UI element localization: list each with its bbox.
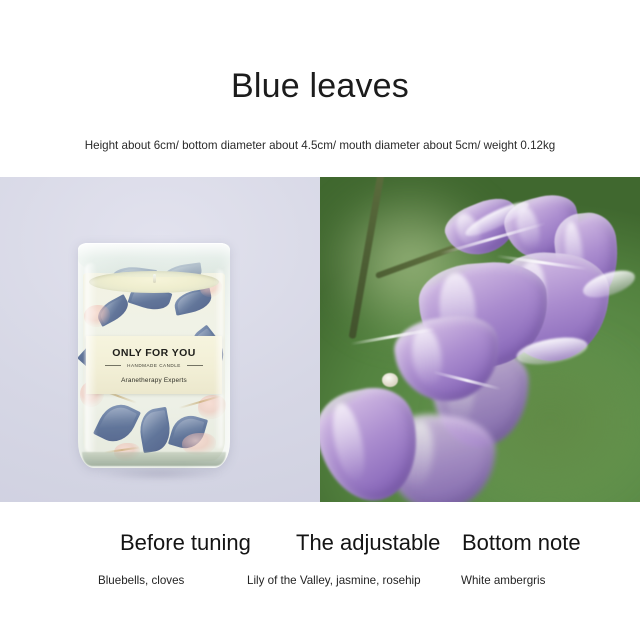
flower-bud	[382, 373, 398, 387]
jar-highlight-left	[85, 263, 97, 453]
media-strip: ONLY FOR YOU HANDMADE CANDLE Aranetherap…	[0, 177, 640, 502]
page-header: Blue leaves Height about 6cm/ bottom dia…	[0, 0, 640, 177]
label-subtitle-text: HANDMADE CANDLE	[127, 363, 181, 368]
note-heading-base: Bottom note	[462, 530, 581, 556]
candle-product-photo: ONLY FOR YOU HANDMADE CANDLE Aranetherap…	[0, 177, 320, 502]
note-heading-top: Before tuning	[120, 530, 251, 556]
label-rule-right	[187, 365, 203, 366]
fragrance-notes: Before tuning The adjustable Bottom note…	[0, 502, 640, 640]
note-heading-middle: The adjustable	[296, 530, 440, 556]
jar-base	[82, 452, 226, 466]
label-rule-left	[105, 365, 121, 366]
glass-jar-body: ONLY FOR YOU HANDMADE CANDLE Aranetherap…	[78, 243, 230, 468]
label-subtitle-row: HANDMADE CANDLE	[86, 363, 222, 368]
jar-highlight-right	[214, 269, 223, 449]
jar-rim	[78, 243, 230, 277]
note-detail-middle: Lily of the Valley, jasmine, rosehip	[247, 573, 421, 589]
note-detail-base: White ambergris	[461, 573, 545, 589]
label-tagline-text: Aranetherapy Experts	[86, 377, 222, 384]
bluebell-flower-photo	[320, 177, 640, 502]
candle-label: ONLY FOR YOU HANDMADE CANDLE Aranetherap…	[86, 336, 222, 394]
product-specifications: Height about 6cm/ bottom diameter about …	[0, 138, 640, 154]
label-brand-text: ONLY FOR YOU	[86, 347, 222, 359]
candle-jar: ONLY FOR YOU HANDMADE CANDLE Aranetherap…	[78, 243, 230, 468]
page-title: Blue leaves	[0, 66, 640, 106]
note-detail-top: Bluebells, cloves	[98, 573, 184, 589]
